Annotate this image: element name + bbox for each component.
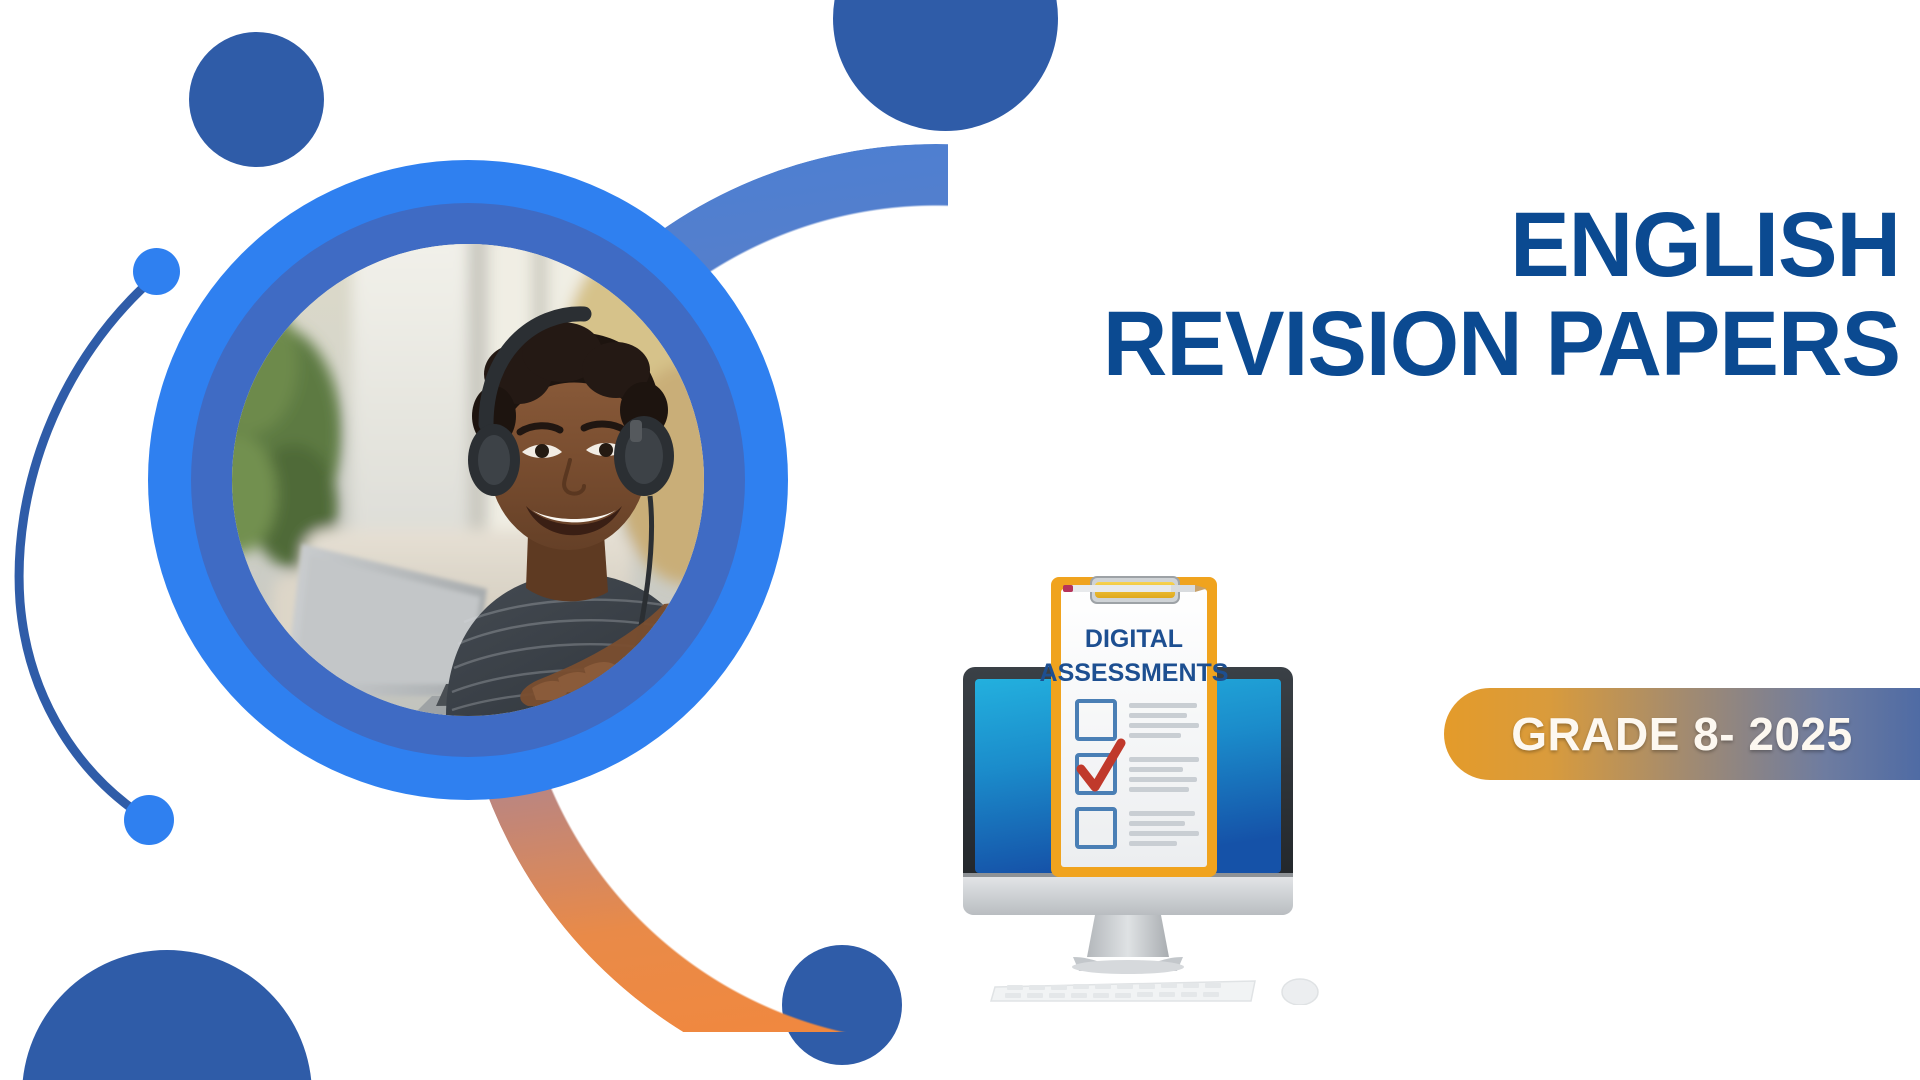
clipboard-title-line-1: DIGITAL <box>1085 625 1183 653</box>
poster-canvas: ENGLISH REVISION PAPERS GRADE 8- 2025 <box>0 0 1920 1080</box>
digital-assessments-illustration: DIGITAL ASSESSMENTS <box>955 555 1385 1005</box>
keyboard-icon <box>991 981 1255 1001</box>
mouse-icon <box>1282 979 1318 1005</box>
student-photo <box>232 244 704 716</box>
decor-circle-top-left <box>189 32 324 167</box>
grade-badge: GRADE 8- 2025 <box>1444 688 1920 780</box>
decor-circle-bottom-left <box>22 950 312 1080</box>
grade-badge-label: GRADE 8- 2025 <box>1511 707 1852 761</box>
decor-arc-dot-bottom <box>124 795 174 845</box>
decor-arc-dot-top <box>133 248 180 295</box>
title-line-1: ENGLISH <box>969 196 1900 295</box>
page-title: ENGLISH REVISION PAPERS <box>940 196 1900 395</box>
title-line-2: REVISION PAPERS <box>969 295 1900 394</box>
clipboard-title-line-2: ASSESSMENTS <box>1040 659 1229 687</box>
